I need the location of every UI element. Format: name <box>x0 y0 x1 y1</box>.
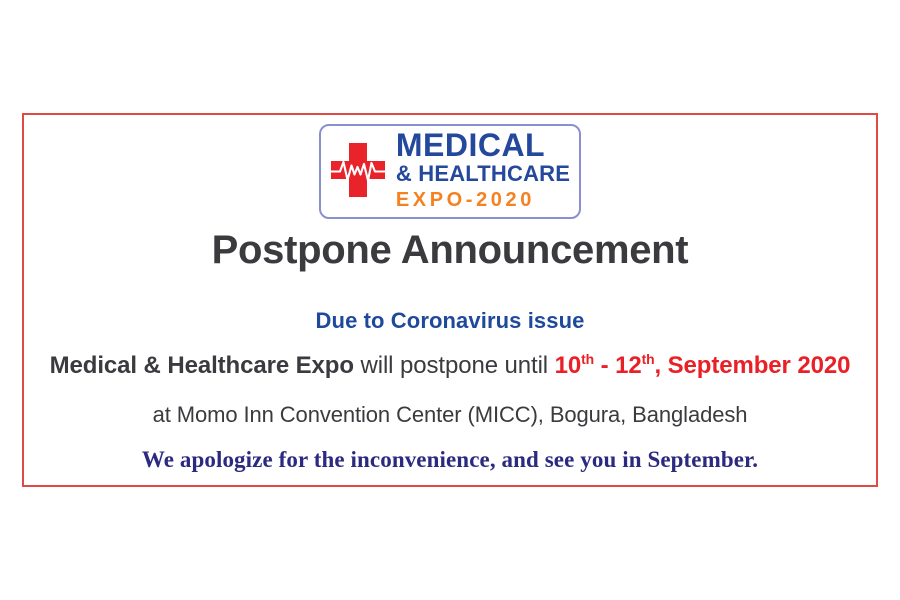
event-logo-text: MEDICAL & HEALTHCARE EXPO-2020 <box>396 130 570 213</box>
postpone-connector: will postpone until <box>354 352 555 379</box>
date-day-to: 12 <box>615 352 642 379</box>
announcement-poster-frame: MEDICAL & HEALTHCARE EXPO-2020 Postpone … <box>22 113 878 487</box>
venue-statement: at Momo Inn Convention Center (MICC), Bo… <box>24 402 876 428</box>
event-logo: MEDICAL & HEALTHCARE EXPO-2020 <box>24 124 876 219</box>
apology-statement: We apologize for the inconvenience, and … <box>24 447 876 473</box>
date-month-year: , September 2020 <box>655 352 851 379</box>
postpone-statement: Medical & Healthcare Expo will postpone … <box>24 352 876 380</box>
date-day-from-suffix: th <box>581 351 594 367</box>
date-day-to-suffix: th <box>642 351 655 367</box>
postpone-date: 10th - 12th, September 2020 <box>555 352 851 379</box>
event-logo-box: MEDICAL & HEALTHCARE EXPO-2020 <box>319 124 581 219</box>
logo-line-medical: MEDICAL <box>396 130 545 161</box>
logo-line-expo-year: EXPO-2020 <box>396 189 535 213</box>
date-day-separator: - <box>594 352 615 379</box>
postpone-org-name: Medical & Healthcare Expo <box>50 352 354 379</box>
announcement-poster-content: MEDICAL & HEALTHCARE EXPO-2020 Postpone … <box>24 115 876 485</box>
medical-cross-heartbeat-icon <box>327 140 389 202</box>
page-title: Postpone Announcement <box>24 228 876 273</box>
logo-line-healthcare: & HEALTHCARE <box>396 162 570 187</box>
date-day-from: 10 <box>555 352 582 379</box>
reason-subtitle: Due to Coronavirus issue <box>24 308 876 334</box>
